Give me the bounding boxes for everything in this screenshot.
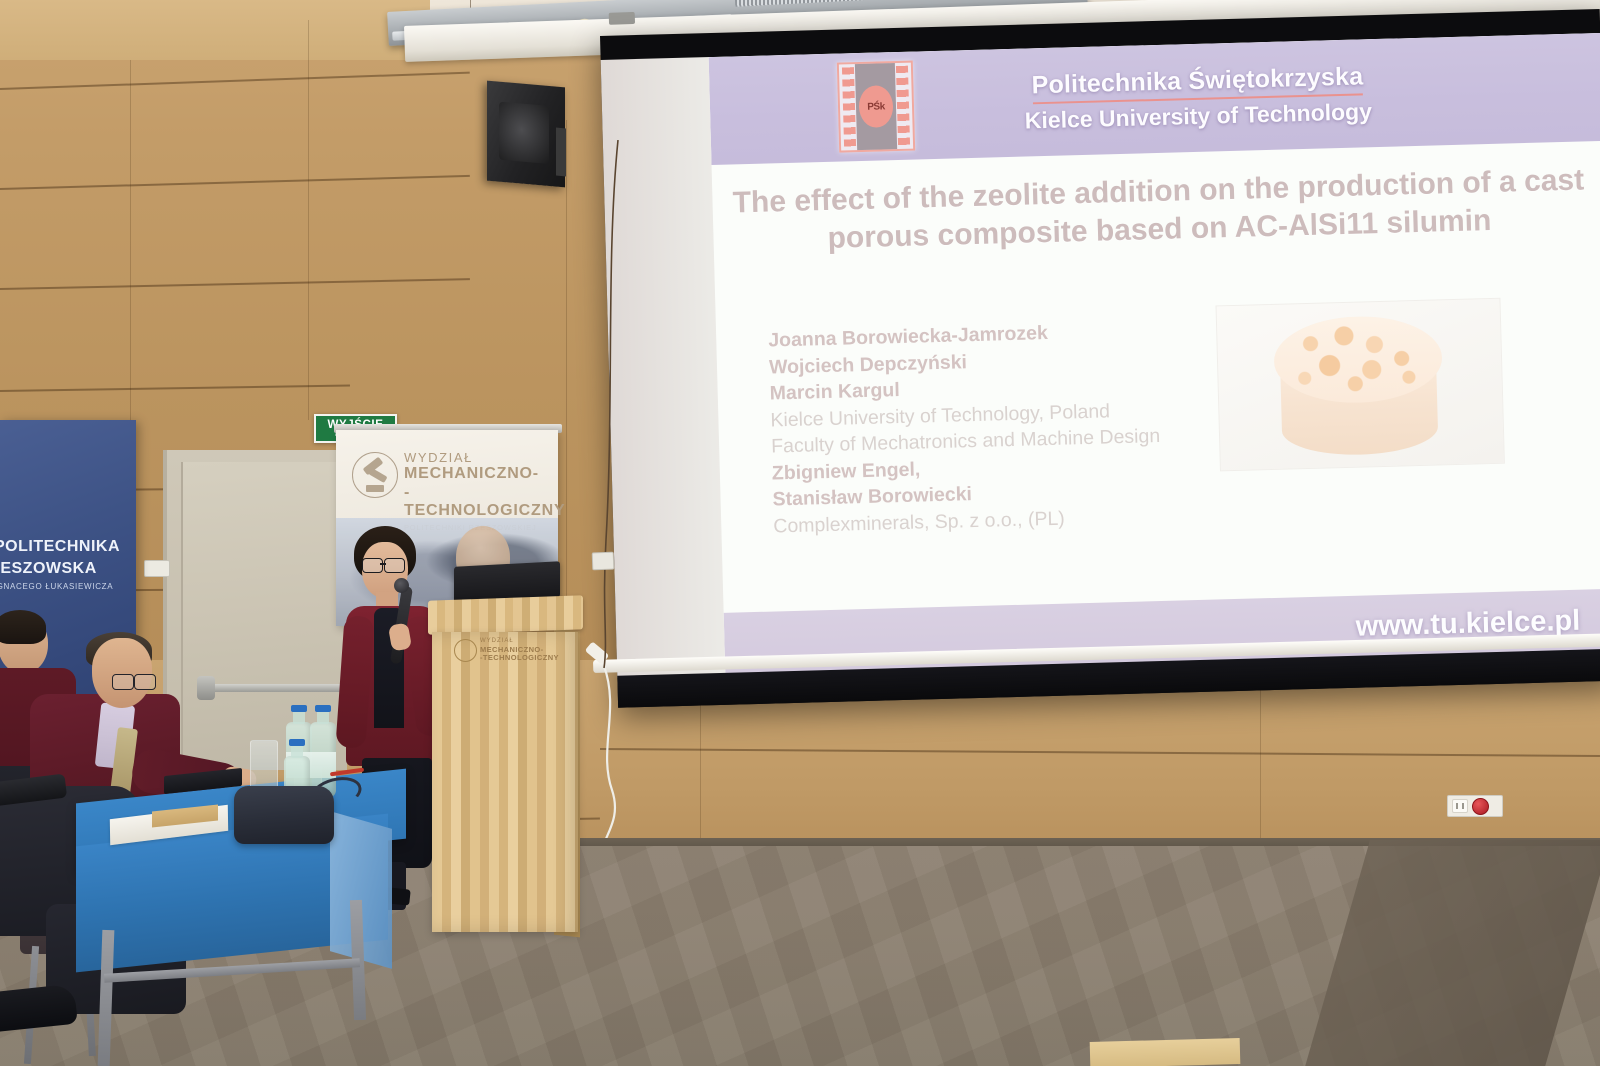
lectern-front-panel: WYDZIAŁ MECHANICZNO- -TECHNOLOGICZNY [432, 632, 578, 932]
foreground-person-shoe [0, 984, 78, 1033]
crest-right-strip [896, 66, 910, 146]
wall-joint [130, 60, 131, 460]
blue-banner-line2: RZESZOWSKA [0, 560, 138, 578]
kielce-university-crest-icon: PŚk [837, 61, 915, 153]
panelist-front-glasses-right [134, 674, 156, 690]
wall-signal-cable [600, 140, 630, 670]
emergency-stop-button-icon[interactable] [1472, 798, 1489, 815]
screen-mount-clip [609, 12, 635, 25]
lecture-hall-photo: PŚk Politechnika Świętokrzyska Kielce Un… [0, 0, 1600, 1066]
slide-canvas: PŚk Politechnika Świętokrzyska Kielce Un… [709, 33, 1600, 675]
slide-title: The effect of the zeolite addition on th… [730, 161, 1588, 261]
projection-screen: PŚk Politechnika Świętokrzyska Kielce Un… [600, 9, 1600, 708]
speaker-bracket [556, 127, 566, 176]
lectern-logo-line1: WYDZIAŁ [480, 638, 514, 644]
crest-left-strip [842, 67, 856, 147]
screen-power-cable [590, 660, 740, 860]
lectern-logo-circle-icon [454, 639, 477, 662]
light-switch[interactable] [144, 560, 170, 577]
power-socket-icon[interactable] [1452, 799, 1468, 813]
presenter-glasses-left [362, 558, 383, 573]
slide-header: PŚk Politechnika Świętokrzyska Kielce Un… [709, 33, 1600, 165]
rollup-line3: -TECHNOLOGICZNY [404, 484, 550, 521]
presenter-glasses-bridge [380, 563, 386, 565]
logo-base [366, 485, 384, 492]
panelist-front-head [92, 638, 152, 708]
wall-speaker [487, 81, 565, 188]
presenter-glasses-right [384, 558, 405, 573]
rollup-line2: MECHANICZNO- [404, 465, 550, 484]
wall-socket[interactable] [592, 552, 615, 571]
rollup-line1: WYDZIAŁ [404, 450, 550, 465]
lectern: WYDZIAŁ MECHANICZNO- -TECHNOLOGICZNY [424, 598, 584, 968]
lectern-top [428, 595, 583, 634]
wall-joint [1260, 690, 1261, 840]
lectern-faculty-logo: WYDZIAŁ MECHANICZNO- -TECHNOLOGICZNY [454, 638, 566, 662]
lectern-logo-line3: -TECHNOLOGICZNY [480, 653, 559, 662]
blue-banner-line3: im. IGNACEGO ŁUKASIEWICZA [0, 582, 148, 591]
wall-plate-socket-and-button[interactable] [1447, 795, 1503, 817]
panelist-front-glasses-left [112, 674, 134, 690]
university-name-en: Kielce University of Technology [914, 95, 1483, 137]
wall-joint [308, 20, 309, 420]
slide-header-text: Politechnika Świętokrzyska Kielce Univer… [913, 56, 1600, 137]
microphone-head [394, 578, 409, 593]
projected-slide: PŚk Politechnika Świętokrzyska Kielce Un… [709, 33, 1600, 675]
wooden-plank-on-floor [1090, 1038, 1241, 1066]
slide-author-list: Joanna Borowiecka-JamrozekWojciech Depcz… [768, 315, 1244, 540]
robotic-arm-logo-icon [352, 452, 398, 498]
blue-banner-line1: POLITECHNIKA [0, 538, 144, 556]
porous-composite-sample-photo [1216, 298, 1505, 472]
black-bag[interactable] [234, 786, 334, 844]
